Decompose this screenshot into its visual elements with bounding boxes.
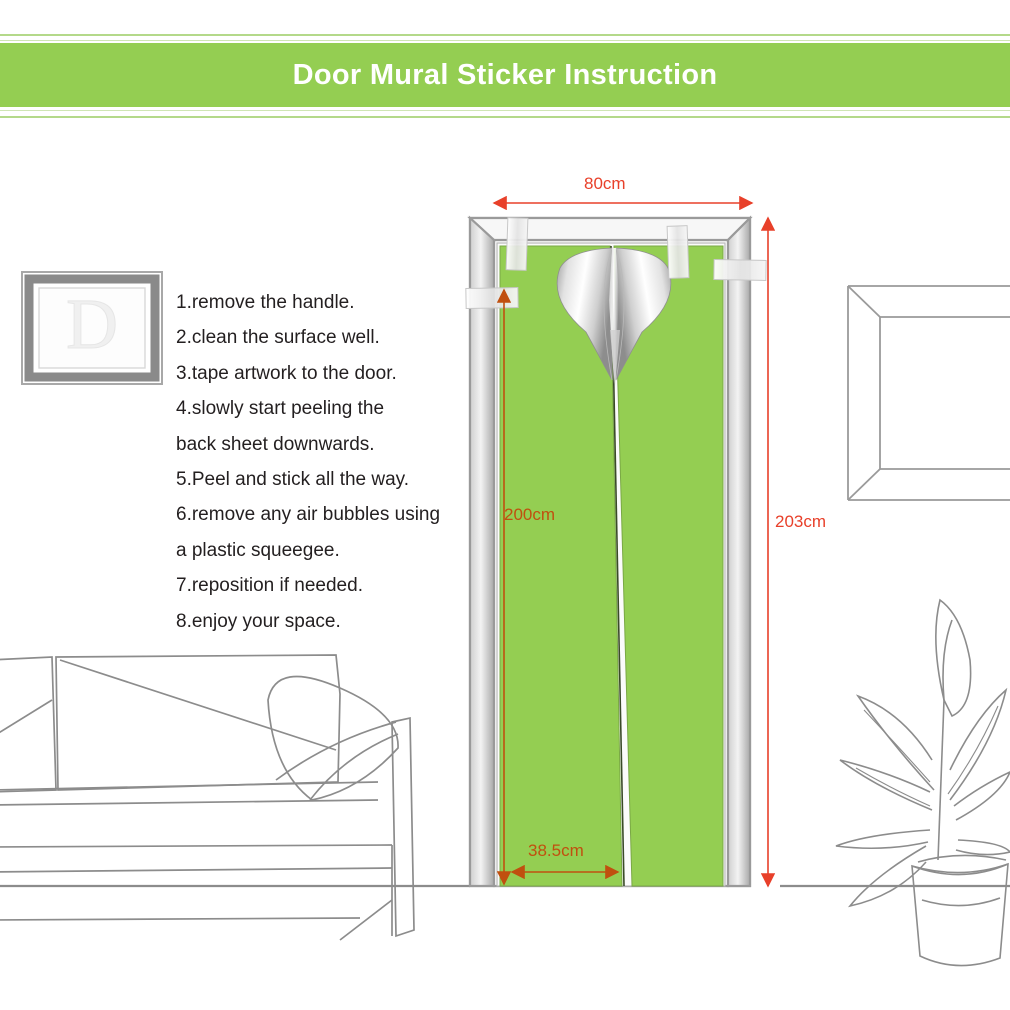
instruction-list: 1.remove the handle. 2.clean the surface… xyxy=(176,285,476,639)
banner-rule-bottom xyxy=(0,116,1010,118)
door-mural-instruction-graphic: Door Mural Sticker Instruction xyxy=(0,0,1010,1010)
banner-bar: Door Mural Sticker Instruction xyxy=(0,43,1010,107)
door-mural-sticker-left-panel xyxy=(500,246,622,886)
dim-label-height-door: 203cm xyxy=(775,512,826,532)
instruction-line: 8.enjoy your space. xyxy=(176,604,476,639)
banner-rule-top-thin xyxy=(0,40,1010,41)
door-frame xyxy=(470,218,750,886)
dim-label-width-top: 80cm xyxy=(584,174,626,194)
tape-strip-top-left xyxy=(506,218,528,271)
potted-plant xyxy=(836,600,1010,966)
header-banner: Door Mural Sticker Instruction xyxy=(0,30,1010,120)
peeling-backing-paper xyxy=(557,248,671,386)
wall-picture-frame-left xyxy=(22,272,162,384)
instruction-line: 2.clean the surface well. xyxy=(176,320,476,355)
picture-frame-letter: D xyxy=(66,284,118,364)
instruction-line: 1.remove the handle. xyxy=(176,285,476,320)
dim-label-height-sticker: 200cm xyxy=(504,505,555,525)
tape-strip-top-right xyxy=(667,226,689,279)
dim-label-width-panel: 38.5cm xyxy=(528,841,584,861)
door-slab xyxy=(497,243,725,886)
instruction-line: 6.remove any air bubbles using xyxy=(176,497,476,532)
door-mural-sticker-right-panel xyxy=(614,246,723,886)
wall-picture-frame-right xyxy=(848,286,1010,500)
instruction-line: back sheet downwards. xyxy=(176,427,476,462)
instruction-line: 7.reposition if needed. xyxy=(176,568,476,603)
tape-strip-right-edge xyxy=(714,260,766,281)
sofa xyxy=(0,655,414,940)
sticker-centre-seam xyxy=(611,246,624,886)
instruction-line: 4.slowly start peeling the xyxy=(176,391,476,426)
banner-rule-top xyxy=(0,34,1010,36)
instruction-line: a plastic squeegee. xyxy=(176,533,476,568)
page-title: Door Mural Sticker Instruction xyxy=(293,59,718,92)
instruction-line: 3.tape artwork to the door. xyxy=(176,356,476,391)
instruction-line: 5.Peel and stick all the way. xyxy=(176,462,476,497)
banner-rule-bottom-thin xyxy=(0,110,1010,111)
